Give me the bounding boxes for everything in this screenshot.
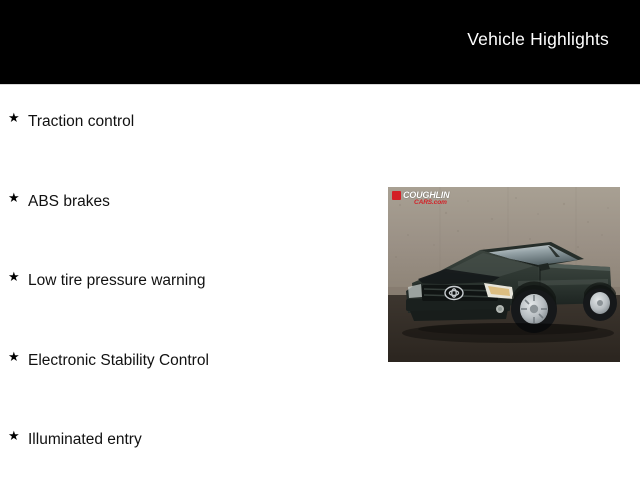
star-bullet-icon: ★ — [8, 270, 20, 283]
page-title: Vehicle Highlights — [467, 29, 609, 50]
list-item: ★ Illuminated entry — [0, 414, 380, 494]
page-header: Vehicle Highlights — [0, 0, 640, 84]
highlight-label: ABS brakes — [28, 189, 110, 215]
star-bullet-icon: ★ — [8, 350, 20, 363]
list-item: ★ Low tire pressure warning — [0, 255, 380, 335]
highlight-label: Low tire pressure warning — [28, 268, 205, 294]
highlight-label: Illuminated entry — [28, 427, 142, 453]
list-item: ★ Traction control — [0, 96, 380, 176]
vehicle-photo: COUGHLIN CARS.com — [388, 187, 620, 362]
star-bullet-icon: ★ — [8, 111, 20, 124]
vehicle-highlights-list: ★ Traction control ★ ABS brakes ★ Low ti… — [0, 96, 380, 494]
star-bullet-icon: ★ — [8, 429, 20, 442]
highlight-label: Traction control — [28, 109, 134, 135]
star-bullet-icon: ★ — [8, 191, 20, 204]
vehicle-photo-illustration — [388, 187, 620, 362]
highlight-label: Electronic Stability Control — [28, 348, 209, 374]
list-item: ★ ABS brakes — [0, 176, 380, 256]
header-divider — [0, 84, 640, 85]
list-item: ★ Electronic Stability Control — [0, 335, 380, 415]
